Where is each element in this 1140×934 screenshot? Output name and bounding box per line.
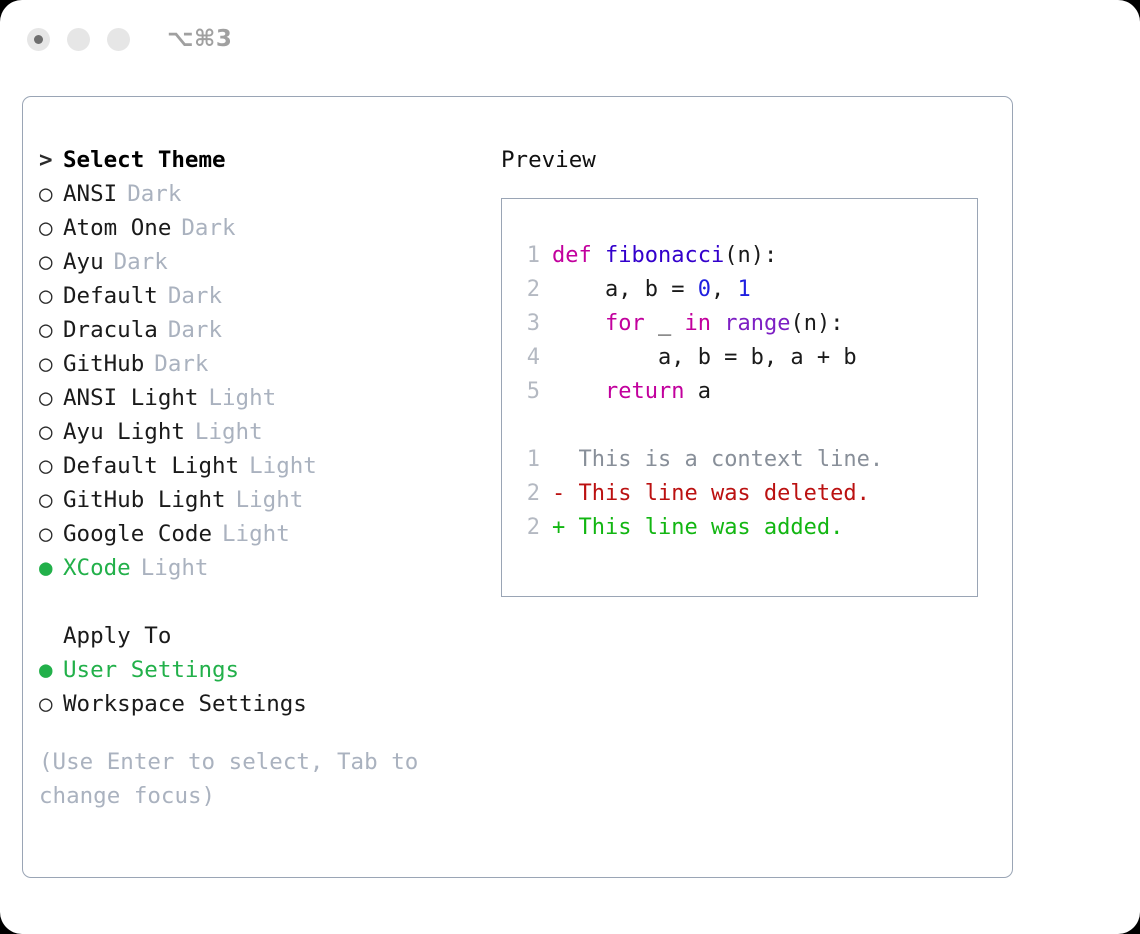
keyboard-hint-text: (Use Enter to select, Tab to change focu…	[39, 745, 449, 813]
keyboard-shortcut-label: ⌥⌘3	[167, 26, 232, 52]
code-token: _	[645, 311, 685, 336]
theme-list-item[interactable]: ○Ayu LightLight	[39, 415, 479, 449]
code-line-number: 5	[520, 375, 540, 409]
theme-name: Google Code	[63, 521, 212, 547]
theme-variant-badge: Dark	[114, 249, 168, 275]
code-token: range	[724, 311, 790, 336]
code-token: a, b = b, a + b	[552, 345, 857, 370]
preview-title: Preview	[501, 143, 991, 177]
theme-list-item[interactable]: ○DraculaDark	[39, 313, 479, 347]
code-token: fibonacci	[605, 243, 724, 268]
diff-line-number: 2	[520, 477, 540, 511]
window-dot-3[interactable]	[107, 28, 130, 51]
preview-panel: Preview 1def fibonacci(n):2 a, b = 0, 13…	[501, 143, 991, 597]
diff-sign	[552, 447, 565, 472]
radio-unselected-icon[interactable]: ○	[39, 177, 63, 211]
code-line: 3 for _ in range(n):	[520, 307, 977, 341]
apply-to-option[interactable]: ●User Settings	[39, 653, 479, 687]
theme-list-item[interactable]: ○ANSI LightLight	[39, 381, 479, 415]
diff-line-number: 2	[520, 511, 540, 545]
code-sample: 1def fibonacci(n):2 a, b = 0, 13 for _ i…	[520, 239, 977, 409]
code-token: return	[605, 379, 684, 404]
diff-sign: +	[552, 515, 565, 540]
theme-variant-badge: Light	[195, 419, 263, 445]
theme-variant-badge: Light	[249, 453, 317, 479]
theme-list-item[interactable]: ○Default LightLight	[39, 449, 479, 483]
theme-selector-panel: >Select Theme ○ANSIDark○Atom OneDark○Ayu…	[39, 143, 479, 813]
window-dot-active[interactable]	[27, 28, 50, 51]
radio-unselected-icon[interactable]: ○	[39, 347, 63, 381]
code-diff-spacer	[520, 409, 977, 443]
preview-box: 1def fibonacci(n):2 a, b = 0, 13 for _ i…	[501, 198, 978, 597]
code-token	[552, 379, 605, 404]
theme-list-item[interactable]: ○GitHubDark	[39, 347, 479, 381]
diff-line: 1 This is a context line.	[520, 443, 977, 477]
theme-name: XCode	[63, 555, 131, 581]
theme-list-item[interactable]: ○Atom OneDark	[39, 211, 479, 245]
theme-name: Ayu Light	[63, 419, 185, 445]
code-line: 2 a, b = 0, 1	[520, 273, 977, 307]
apply-to-option-label: Workspace Settings	[63, 691, 307, 717]
apply-to-option[interactable]: ○Workspace Settings	[39, 687, 479, 721]
diff-line: 2- This line was deleted.	[520, 477, 977, 511]
code-line: 5 return a	[520, 375, 977, 409]
diff-text: This line was deleted.	[565, 481, 870, 506]
theme-variant-badge: Dark	[168, 283, 222, 309]
radio-unselected-icon[interactable]: ○	[39, 279, 63, 313]
theme-list-item[interactable]: ○DefaultDark	[39, 279, 479, 313]
theme-name: Dracula	[63, 317, 158, 343]
code-token	[552, 311, 605, 336]
radio-unselected-icon[interactable]: ○	[39, 313, 63, 347]
select-theme-heading: >Select Theme	[39, 143, 479, 177]
radio-selected-icon[interactable]: ●	[39, 653, 63, 687]
theme-name: Atom One	[63, 215, 171, 241]
code-line: 1def fibonacci(n):	[520, 239, 977, 273]
theme-name: ANSI	[63, 181, 117, 207]
code-token: in	[684, 311, 711, 336]
code-token: (n):	[724, 243, 777, 268]
theme-name: Default Light	[63, 453, 239, 479]
diff-sample: 1 This is a context line.2- This line wa…	[520, 443, 977, 545]
radio-unselected-icon[interactable]: ○	[39, 211, 63, 245]
apply-to-heading: Apply To	[39, 619, 479, 653]
theme-variant-badge: Dark	[154, 351, 208, 377]
theme-list: ○ANSIDark○Atom OneDark○AyuDark○DefaultDa…	[39, 177, 479, 585]
theme-list-item[interactable]: ○GitHub LightLight	[39, 483, 479, 517]
diff-line-number: 1	[520, 443, 540, 477]
code-token: for	[605, 311, 645, 336]
diff-sign: -	[552, 481, 565, 506]
code-token: 1	[737, 277, 750, 302]
theme-name: GitHub Light	[63, 487, 226, 513]
window-dot-active-inner	[34, 35, 43, 44]
code-token: a	[684, 379, 711, 404]
code-line: 4 a, b = b, a + b	[520, 341, 977, 375]
theme-variant-badge: Dark	[127, 181, 181, 207]
apply-to-heading-label: Apply To	[63, 623, 171, 649]
radio-unselected-icon[interactable]: ○	[39, 687, 63, 721]
code-token: 0	[698, 277, 711, 302]
code-token	[711, 311, 724, 336]
diff-text: This is a context line.	[565, 447, 883, 472]
theme-variant-badge: Dark	[181, 215, 235, 241]
section-spacer	[39, 585, 479, 619]
theme-name: GitHub	[63, 351, 144, 377]
theme-list-item[interactable]: ●XCodeLight	[39, 551, 479, 585]
title-bar: ⌥⌘3	[0, 0, 1140, 78]
theme-name: ANSI Light	[63, 385, 198, 411]
theme-list-item[interactable]: ○AyuDark	[39, 245, 479, 279]
code-line-number: 4	[520, 341, 540, 375]
theme-variant-badge: Light	[236, 487, 304, 513]
radio-unselected-icon[interactable]: ○	[39, 381, 63, 415]
code-token: def	[552, 243, 605, 268]
heading-caret-icon: >	[39, 143, 63, 177]
diff-line: 2+ This line was added.	[520, 511, 977, 545]
theme-variant-badge: Light	[208, 385, 276, 411]
radio-unselected-icon[interactable]: ○	[39, 449, 63, 483]
apply-to-option-label: User Settings	[63, 657, 239, 683]
radio-unselected-icon[interactable]: ○	[39, 517, 63, 551]
code-line-number: 1	[520, 239, 540, 273]
diff-text: This line was added.	[565, 515, 843, 540]
radio-unselected-icon[interactable]: ○	[39, 415, 63, 449]
radio-selected-icon[interactable]: ●	[39, 551, 63, 585]
select-theme-heading-label: Select Theme	[63, 147, 226, 173]
app-window: ⌥⌘3 >Select Theme ○ANSIDark○Atom OneDark…	[0, 0, 1140, 934]
code-token: (n):	[790, 311, 843, 336]
apply-to-list: ●User Settings○Workspace Settings	[39, 653, 479, 721]
radio-unselected-icon[interactable]: ○	[39, 483, 63, 517]
theme-list-item[interactable]: ○Google CodeLight	[39, 517, 479, 551]
theme-name: Ayu	[63, 249, 104, 275]
code-token: a, b =	[552, 277, 698, 302]
theme-name: Default	[63, 283, 158, 309]
theme-variant-badge: Dark	[168, 317, 222, 343]
radio-unselected-icon[interactable]: ○	[39, 245, 63, 279]
theme-list-item[interactable]: ○ANSIDark	[39, 177, 479, 211]
theme-variant-badge: Light	[222, 521, 290, 547]
code-line-number: 2	[520, 273, 540, 307]
code-token: ,	[711, 277, 738, 302]
content-frame: >Select Theme ○ANSIDark○Atom OneDark○Ayu…	[22, 96, 1013, 878]
code-line-number: 3	[520, 307, 540, 341]
window-dot-2[interactable]	[67, 28, 90, 51]
theme-variant-badge: Light	[141, 555, 209, 581]
